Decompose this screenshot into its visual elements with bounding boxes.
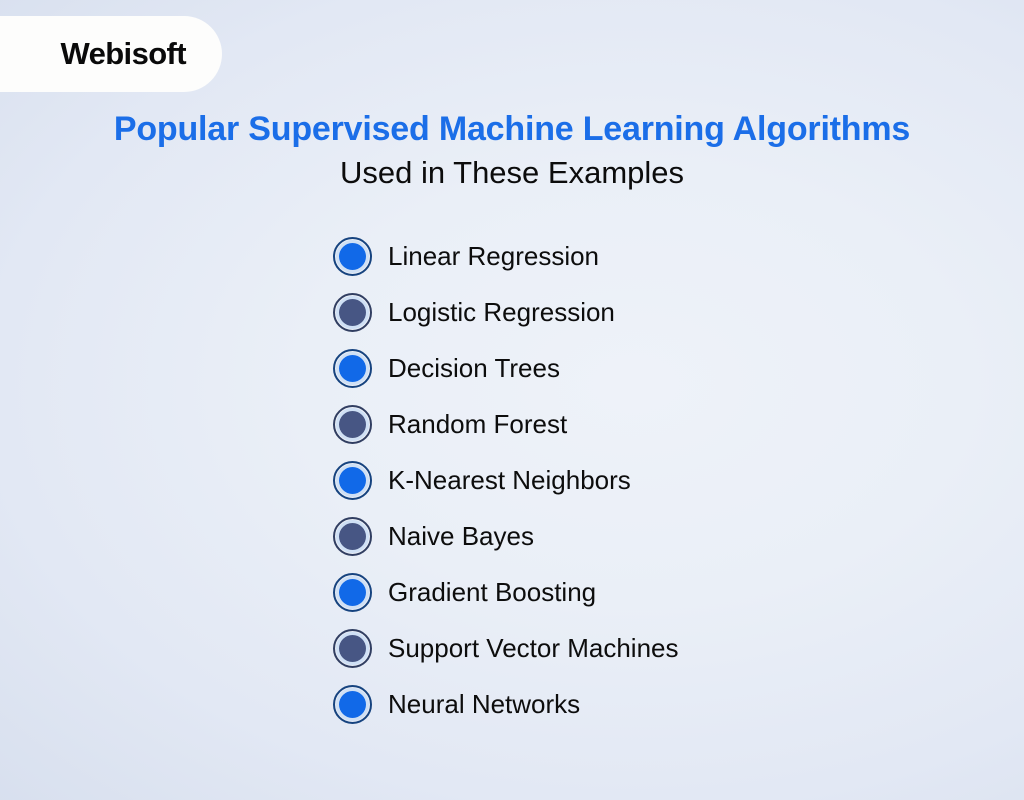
list-item-label: Random Forest — [388, 409, 567, 440]
list-item: Logistic Regression — [333, 284, 973, 340]
bullet-blue-icon — [333, 349, 372, 388]
bullet-blue-icon — [333, 461, 372, 500]
list-item-label: K-Nearest Neighbors — [388, 465, 631, 496]
list-item: K-Nearest Neighbors — [333, 452, 973, 508]
page-title-line-1: Popular Supervised Machine Learning Algo… — [0, 108, 1024, 150]
slide-canvas: Webisoft Popular Supervised Machine Lear… — [0, 0, 1024, 800]
bullet-dot-icon — [339, 411, 366, 438]
list-item: Random Forest — [333, 396, 973, 452]
bullet-dot-icon — [339, 355, 366, 382]
list-item: Decision Trees — [333, 340, 973, 396]
list-item-label: Neural Networks — [388, 689, 580, 720]
list-item-label: Naive Bayes — [388, 521, 534, 552]
list-item-label: Support Vector Machines — [388, 633, 679, 664]
bullet-dot-icon — [339, 467, 366, 494]
bullet-dot-icon — [339, 243, 366, 270]
bullet-dot-icon — [339, 299, 366, 326]
list-item-label: Logistic Regression — [388, 297, 615, 328]
bullet-blue-icon — [333, 237, 372, 276]
bullet-slate-icon — [333, 293, 372, 332]
list-item: Naive Bayes — [333, 508, 973, 564]
list-item-label: Gradient Boosting — [388, 577, 596, 608]
list-item-label: Linear Regression — [388, 241, 599, 272]
bullet-dot-icon — [339, 579, 366, 606]
list-item: Support Vector Machines — [333, 620, 973, 676]
list-item: Neural Networks — [333, 676, 973, 732]
brand-logo-text: Webisoft — [60, 36, 186, 72]
bullet-blue-icon — [333, 685, 372, 724]
bullet-blue-icon — [333, 573, 372, 612]
bullet-dot-icon — [339, 523, 366, 550]
bullet-dot-icon — [339, 691, 366, 718]
page-title-line-2: Used in These Examples — [0, 152, 1024, 194]
bullet-slate-icon — [333, 517, 372, 556]
page-title: Popular Supervised Machine Learning Algo… — [0, 108, 1024, 194]
list-item-label: Decision Trees — [388, 353, 560, 384]
brand-logo-pill: Webisoft — [0, 16, 222, 92]
bullet-slate-icon — [333, 629, 372, 668]
list-item: Gradient Boosting — [333, 564, 973, 620]
bullet-slate-icon — [333, 405, 372, 444]
algorithm-list: Linear RegressionLogistic RegressionDeci… — [333, 228, 973, 732]
list-item: Linear Regression — [333, 228, 973, 284]
bullet-dot-icon — [339, 635, 366, 662]
